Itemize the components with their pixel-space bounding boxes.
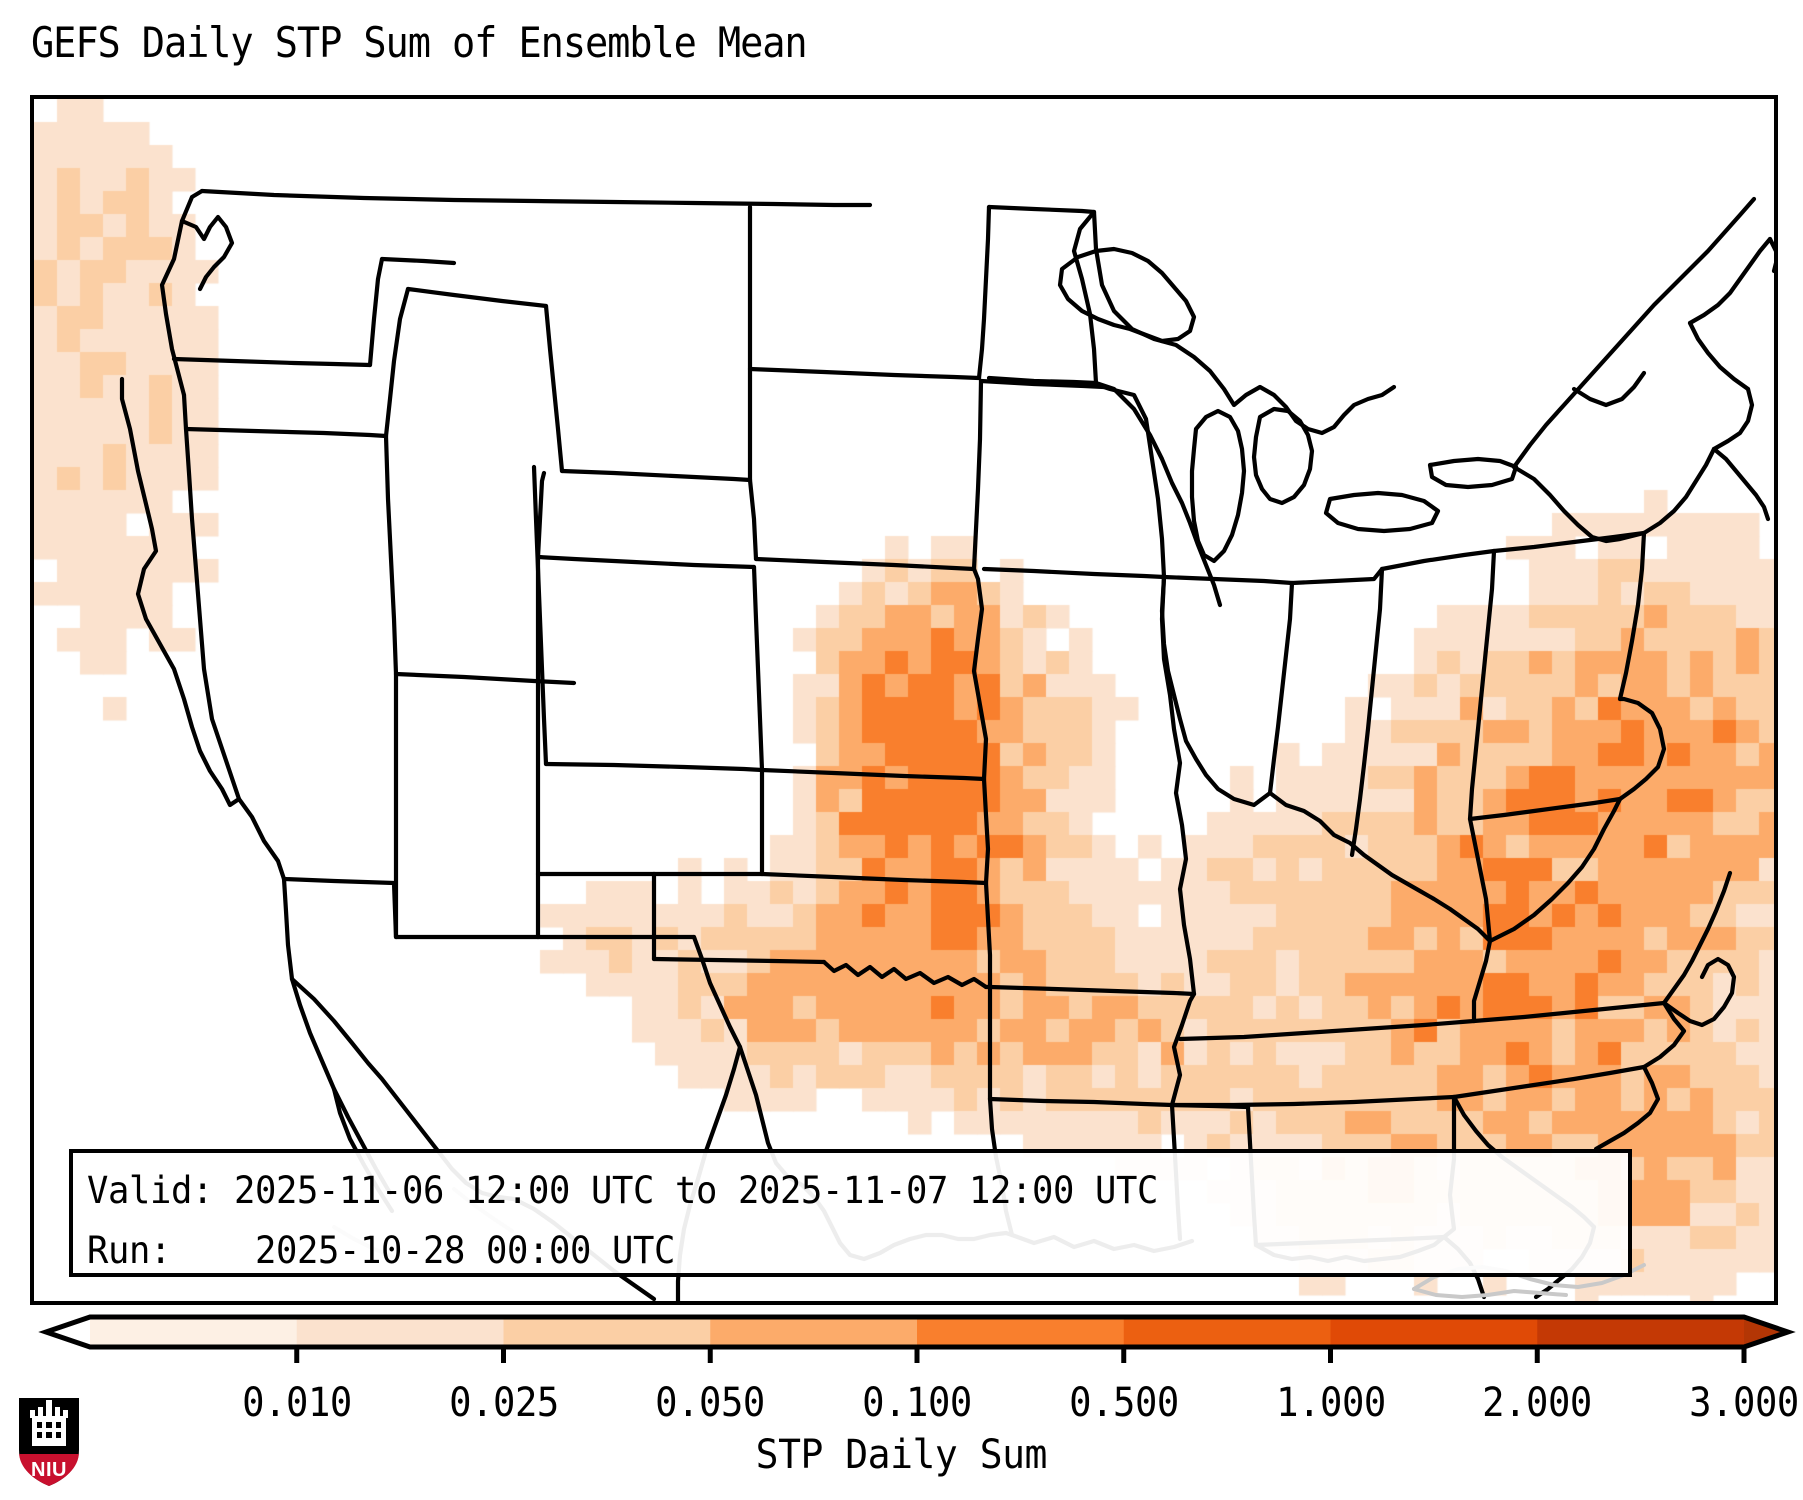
colorbar-tick-label-5: 1.000 (1276, 1380, 1386, 1426)
colorbar-segment-6 (1331, 1317, 1538, 1347)
run-time-line: Run: 2025-10-28 00:00 UTC (87, 1221, 1566, 1281)
geography-layer (34, 99, 1774, 1301)
colorbar-axis-label: STP Daily Sum (0, 1432, 1803, 1478)
colorbar-svg (0, 1311, 1803, 1371)
colorbar-segment-4 (917, 1317, 1124, 1347)
colorbar-tick-label-7: 3.000 (1689, 1380, 1799, 1426)
colorbar-segment-1 (297, 1317, 504, 1347)
page-title: GEFS Daily STP Sum of Ensemble Mean (31, 18, 807, 67)
info-box: Valid: 2025-11-06 12:00 UTC to 2025-11-0… (69, 1149, 1632, 1277)
colorbar-tick-label-3: 0.100 (862, 1380, 972, 1426)
colorbar-axis-label-text: STP Daily Sum (756, 1432, 1047, 1478)
colorbar (0, 1311, 1803, 1371)
colorbar-segment-0 (90, 1317, 297, 1347)
colorbar-tick-label-6: 2.000 (1482, 1380, 1592, 1426)
colorbar-tick-label-2: 0.050 (655, 1380, 765, 1426)
geography-svg (34, 99, 1774, 1301)
map-panel: Valid: 2025-11-06 12:00 UTC to 2025-11-0… (30, 95, 1778, 1305)
colorbar-segment-7 (1537, 1317, 1744, 1347)
colorbar-segments (46, 1317, 1788, 1347)
colorbar-segment-2 (504, 1317, 711, 1347)
niu-logo-text: NIU (31, 1459, 67, 1481)
valid-time-line: Valid: 2025-11-06 12:00 UTC to 2025-11-0… (87, 1161, 1566, 1221)
colorbar-segment-3 (710, 1317, 917, 1347)
map-inner: Valid: 2025-11-06 12:00 UTC to 2025-11-0… (34, 99, 1774, 1301)
colorbar-tick-label-1: 0.025 (449, 1380, 559, 1426)
colorbar-tick-label-4: 0.500 (1069, 1380, 1179, 1426)
colorbar-tick-labels: 0.0100.0250.0500.1000.5001.0002.0003.000 (0, 1380, 1803, 1430)
colorbar-tick-label-0: 0.010 (242, 1380, 352, 1426)
us-state-borders (122, 191, 1774, 1301)
niu-logo: NIU (16, 1396, 82, 1488)
colorbar-segment-5 (1124, 1317, 1331, 1347)
